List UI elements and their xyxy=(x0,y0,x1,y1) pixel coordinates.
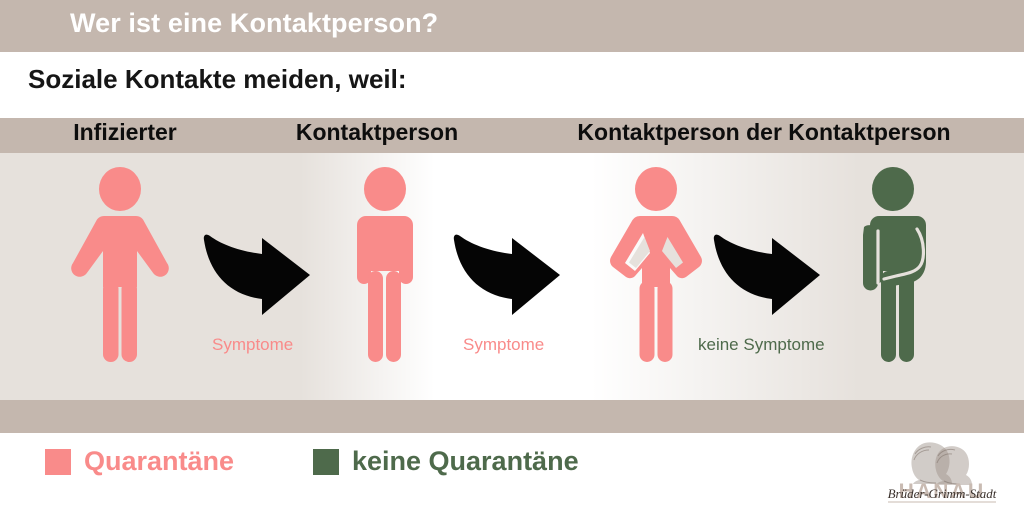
lower-divider-band xyxy=(0,400,1024,433)
legend-item-quarantaene: Quarantäne xyxy=(45,446,234,477)
pink-square-icon xyxy=(45,449,71,475)
grimm-brothers-portrait-icon xyxy=(911,442,972,485)
legend-item-keine-quarantaene: keine Quarantäne xyxy=(313,446,579,477)
column-label-kontaktperson: Kontaktperson xyxy=(250,119,504,146)
curved-arrow-right-icon-1 xyxy=(202,229,314,317)
illustration-panel: Symptome Symptome xyxy=(0,153,1024,400)
title-bar: Wer ist eine Kontaktperson? xyxy=(0,0,1024,52)
transition-caption-3: keine Symptome xyxy=(698,335,825,355)
transition-caption-2: Symptome xyxy=(463,335,544,355)
curved-arrow-right-icon-2 xyxy=(452,229,564,317)
legend-label-quarantaene: Quarantäne xyxy=(84,446,234,477)
green-square-icon xyxy=(313,449,339,475)
page-title: Wer ist eine Kontaktperson? xyxy=(70,8,438,39)
transition-caption-1: Symptome xyxy=(212,335,293,355)
column-label-infizierter: Infizierter xyxy=(0,119,250,146)
subtitle: Soziale Kontakte meiden, weil: xyxy=(28,64,407,95)
legend: Quarantäne keine Quarantäne xyxy=(0,433,1024,512)
infizierter-figure xyxy=(55,167,185,362)
kontaktperson-der-kontaktperson-figure xyxy=(596,167,716,362)
curved-arrow-right-icon-3 xyxy=(712,229,824,317)
hanau-brueder-grimm-stadt-logo: HANAU Brüder-Grimm-Stadt xyxy=(878,436,1006,504)
infographic-canvas: Wer ist eine Kontaktperson? Soziale Kont… xyxy=(0,0,1024,512)
logo-script: Brüder-Grimm-Stadt xyxy=(888,486,997,501)
kontaktperson-figure xyxy=(330,167,440,362)
column-label-kontaktperson-der-kontaktperson: Kontaktperson der Kontaktperson xyxy=(504,119,1024,146)
legend-label-keine-quarantaene: keine Quarantäne xyxy=(352,446,579,477)
keine-quarantaene-figure xyxy=(840,167,960,362)
